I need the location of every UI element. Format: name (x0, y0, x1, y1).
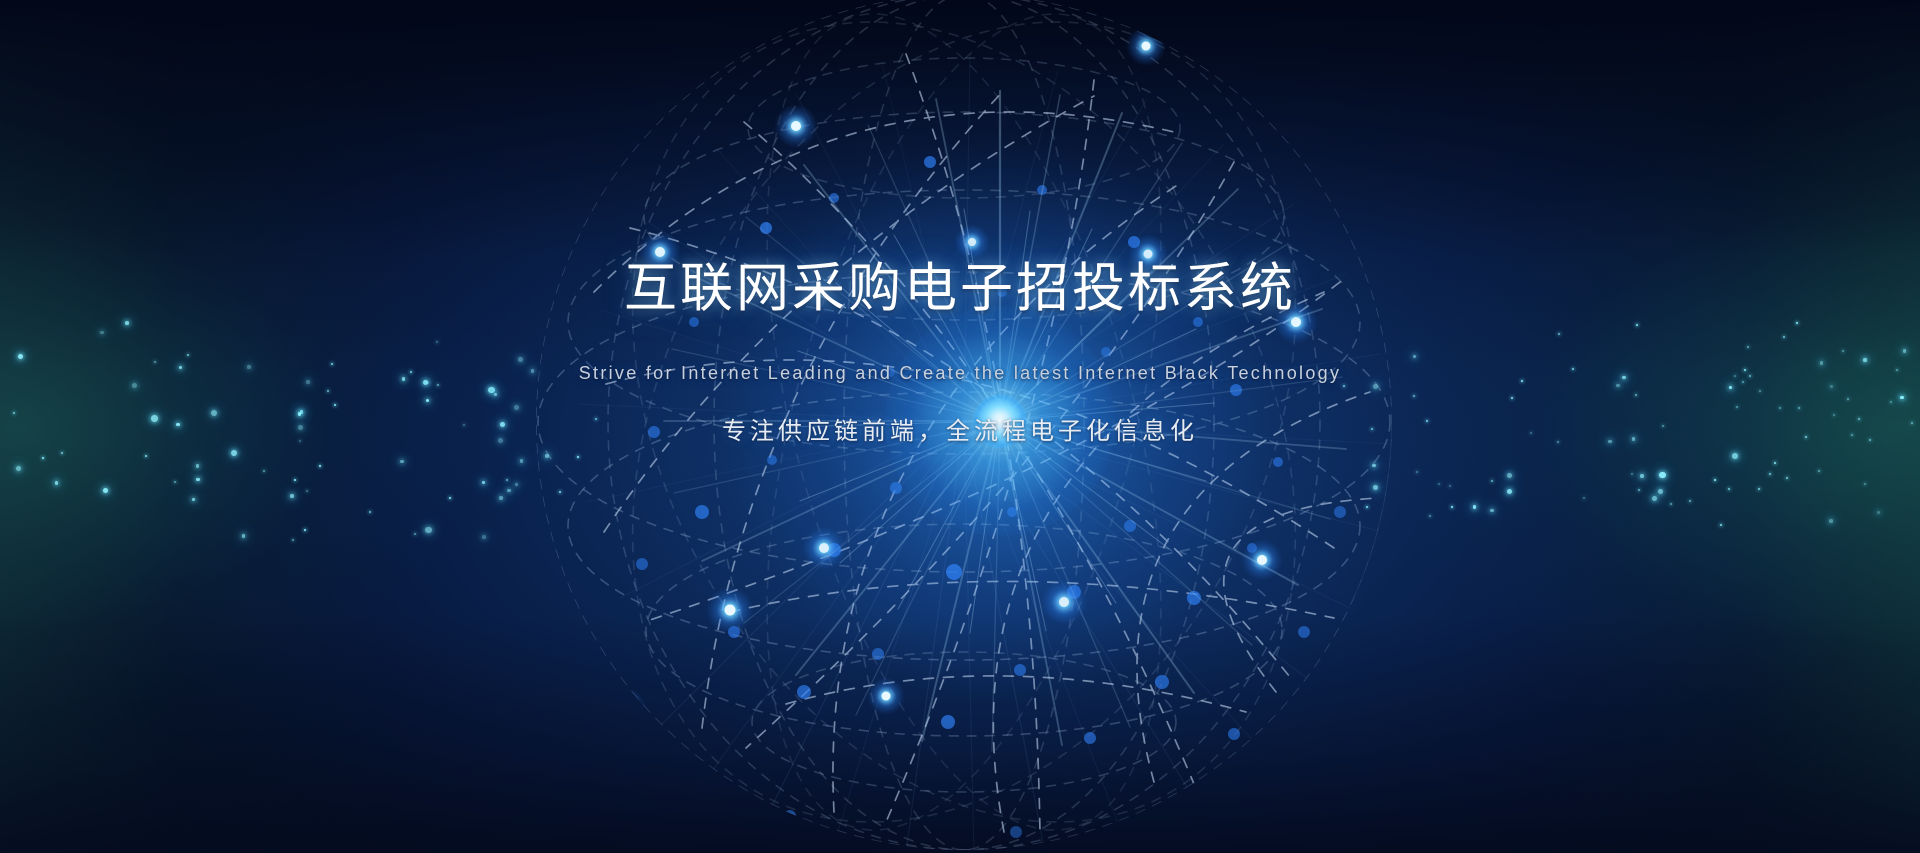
particle-star (231, 450, 238, 457)
particle-star (55, 481, 59, 485)
subtitle-chinese: 专注供应链前端，全流程电子化信息化 (0, 411, 1920, 446)
particle-star (1583, 497, 1585, 499)
particle-star (1732, 453, 1739, 460)
particle-star (1416, 471, 1418, 473)
particle-star (1658, 489, 1663, 494)
particle-star (1429, 515, 1431, 517)
particle-star (1473, 505, 1477, 509)
particle-star (1689, 500, 1691, 502)
hero-banner: 互联网采购电子招投标系统 Strive for Internet Leading… (0, 0, 1920, 853)
particle-star (1714, 479, 1716, 481)
hero-text-block: 互联网采购电子招投标系统 Strive for Internet Leading… (0, 258, 1920, 446)
particle-star (1728, 488, 1730, 490)
particle-star (42, 457, 44, 459)
particle-star (506, 479, 508, 481)
particle-star (1507, 473, 1512, 478)
particle-star (369, 511, 371, 513)
particle-star (1451, 506, 1453, 508)
particle-star (1640, 474, 1644, 478)
particle-star (1638, 489, 1640, 491)
particle-star (103, 488, 108, 493)
particle-star (319, 465, 321, 467)
particle-star (61, 452, 63, 454)
particle-star (499, 496, 503, 500)
particle-star (145, 455, 147, 457)
particle-star (507, 489, 511, 493)
particle-star (515, 483, 519, 487)
particle-star (1818, 470, 1820, 472)
particle-star (263, 470, 265, 472)
page-title: 互联网采购电子招投标系统 (0, 258, 1920, 321)
particle-star (294, 479, 296, 481)
particle-star (1670, 503, 1672, 505)
particle-star (400, 460, 404, 464)
particle-star (1774, 462, 1776, 464)
particle-star (290, 494, 294, 498)
particle-star (1652, 496, 1657, 501)
particle-star (1507, 489, 1512, 494)
subtitle-english: Strive for Internet Leading and Create t… (0, 363, 1920, 384)
particle-star (16, 466, 21, 471)
particle-star (1829, 519, 1833, 523)
particle-star (1720, 524, 1722, 526)
particle-star (1659, 472, 1666, 479)
particle-star (520, 459, 524, 463)
particle-star (192, 498, 196, 502)
particle-star (1758, 488, 1760, 490)
particle-star (449, 497, 451, 499)
particle-star (1877, 511, 1881, 515)
particle-star (196, 478, 200, 482)
particle-star (1769, 473, 1771, 475)
particle-star (306, 490, 308, 492)
particle-star (482, 535, 486, 539)
particle-star (242, 534, 246, 538)
particle-star (1449, 485, 1451, 487)
particle-star (425, 527, 432, 534)
particle-star (414, 533, 416, 535)
particle-star (1631, 473, 1633, 475)
particle-star (292, 539, 294, 541)
particle-star (1491, 480, 1493, 482)
particle-star (1438, 483, 1440, 485)
particle-star (482, 481, 486, 485)
particle-star (304, 529, 306, 531)
particle-star (174, 481, 176, 483)
particle-star (196, 464, 200, 468)
particle-star (1490, 509, 1494, 513)
particle-star (1786, 477, 1788, 479)
particle-star (1864, 483, 1866, 485)
